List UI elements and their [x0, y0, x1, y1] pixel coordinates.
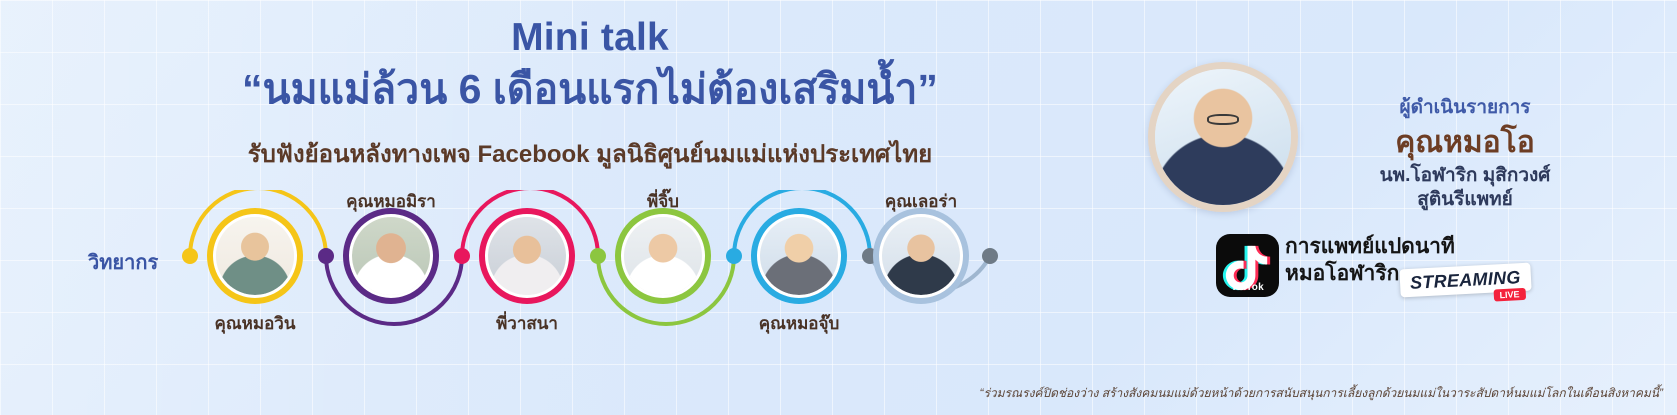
host-avatar — [1148, 62, 1298, 212]
host-specialty: สูตินรีแพทย์ — [1300, 188, 1630, 212]
speaker-avatar-5[interactable] — [751, 208, 847, 304]
speaker-name-2: คุณหมอมิรา — [281, 188, 501, 215]
avatar-photo — [216, 217, 294, 295]
host-info: ผู้ดำเนินรายการ คุณหมอโอ นพ.โอฬาริก มุสิ… — [1300, 92, 1630, 212]
page-title: Mini talk — [0, 16, 1180, 61]
speaker-avatar-2[interactable] — [343, 208, 439, 304]
streaming-badge: STREAMING LIVE — [1399, 263, 1531, 298]
avatar-photo — [760, 217, 838, 295]
speakers-section-label: วิทยากร — [88, 246, 158, 278]
tiktok-wordmark: TikTok — [1216, 282, 1279, 293]
speaker-name-3: พี่วาสนา — [417, 310, 637, 337]
speaker-name-1: คุณหมอวิน — [145, 310, 365, 337]
tiktok-icon[interactable]: TikTok — [1216, 234, 1279, 297]
speaker-avatar-1[interactable] — [207, 208, 303, 304]
speaker-avatar-3[interactable] — [479, 208, 575, 304]
avatar-photo — [488, 217, 566, 295]
footer-note: “ร่วมรณรงค์ปิดช่องว่าง สร้างสังคมนมแม่ด้… — [0, 384, 1663, 403]
event-banner: Mini talk “นมแม่ล้วน 6 เดือนแรกไม่ต้องเส… — [0, 0, 1677, 415]
avatar-photo — [624, 217, 702, 295]
avatar-photo — [882, 217, 960, 295]
host-full-name: นพ.โอฬาริก มุสิกวงศ์ — [1300, 164, 1630, 188]
tiktok-channel-line1: การแพทย์แปดนาที — [1285, 233, 1455, 260]
host-role-label: ผู้ดำเนินรายการ — [1300, 92, 1630, 122]
live-chip: LIVE — [1493, 288, 1526, 302]
avatar-photo — [352, 217, 430, 295]
host-nickname: คุณหมอโอ — [1300, 126, 1630, 159]
speaker-name-4: พี่จิ๊บ — [553, 188, 773, 215]
speaker-name-6: คุณเลอร่า — [811, 188, 1031, 215]
speaker-name-5: คุณหมอจุ๊บ — [689, 310, 909, 337]
speaker-avatar-6[interactable] — [873, 208, 969, 304]
host-face — [1155, 69, 1291, 205]
speaker-avatar-4[interactable] — [615, 208, 711, 304]
glasses-icon — [1207, 114, 1240, 125]
header-block: Mini talk “นมแม่ล้วน 6 เดือนแรกไม่ต้องเส… — [0, 16, 1180, 173]
title-quote: “นมแม่ล้วน 6 เดือนแรกไม่ต้องเสริมน้ำ” — [0, 63, 1180, 116]
subtitle-text: รับฟังย้อนหลังทางเพจ Facebook มูลนิธิศูน… — [0, 134, 1180, 173]
